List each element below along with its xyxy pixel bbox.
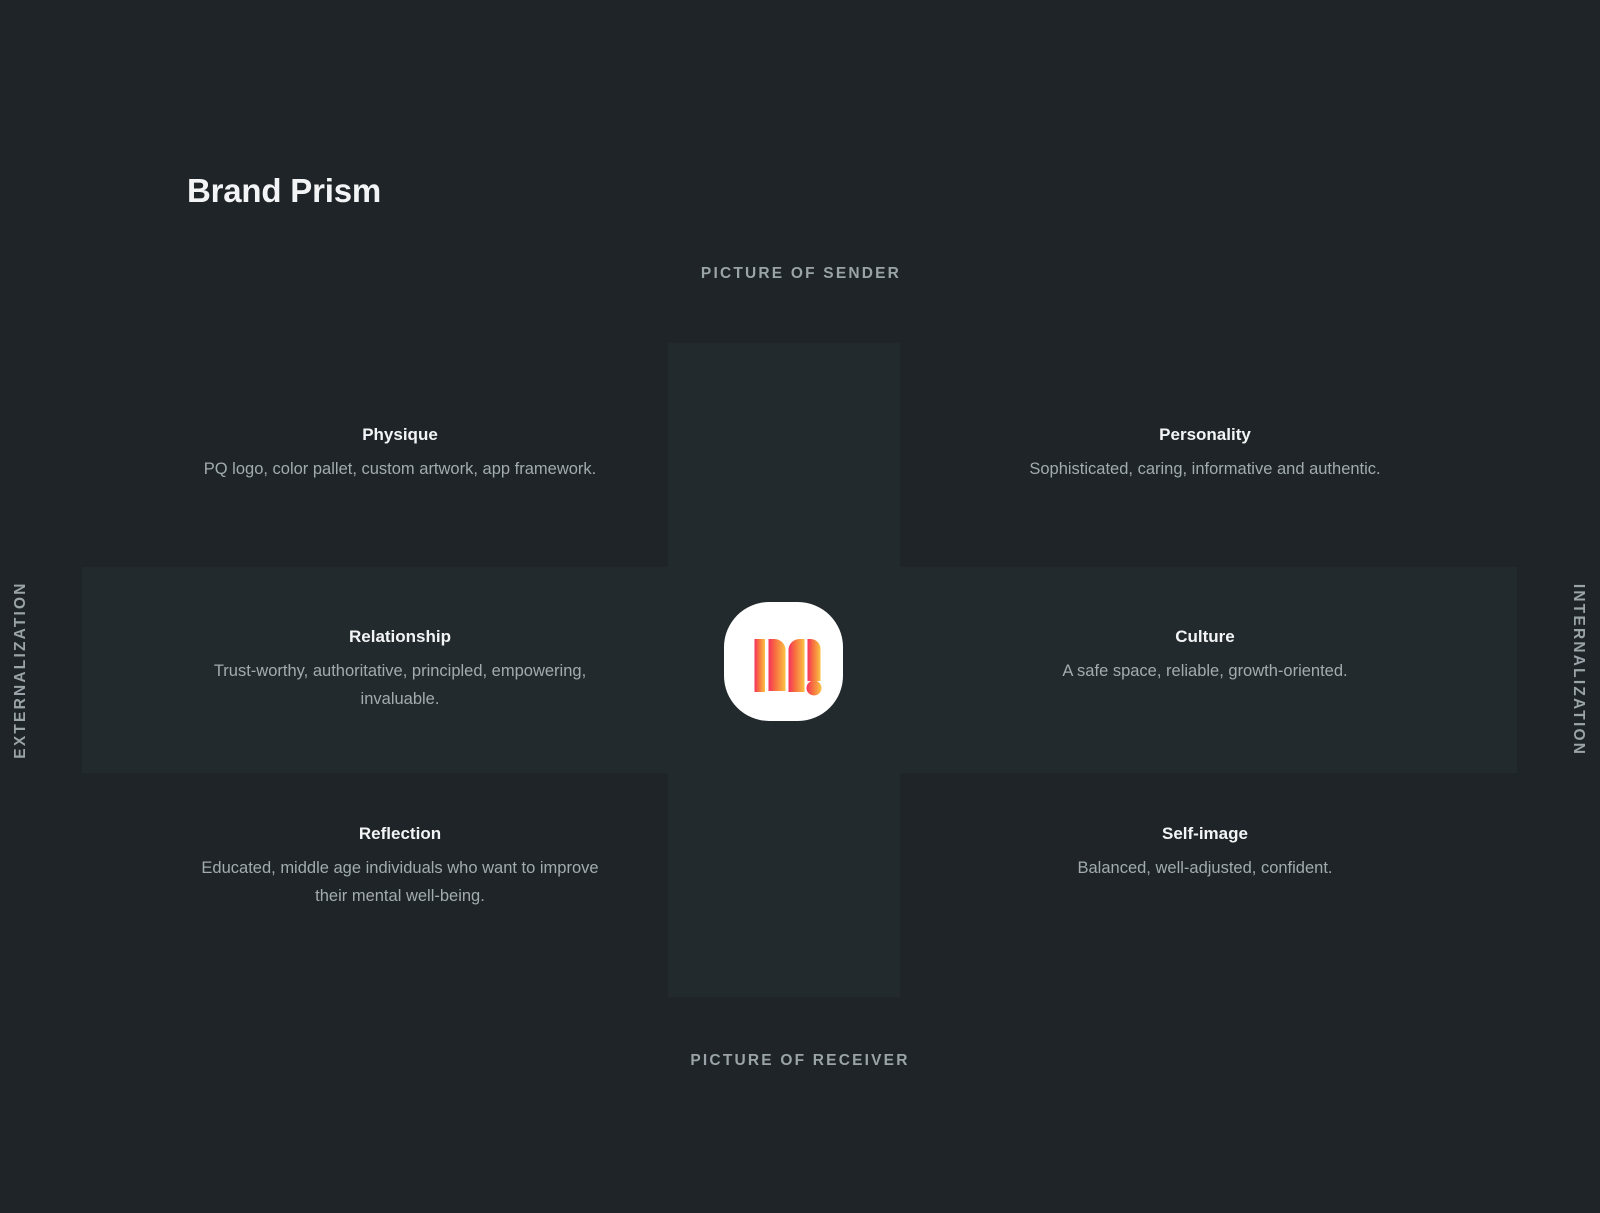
facet-self-image-title: Self-image <box>995 823 1415 845</box>
facet-personality: Personality Sophisticated, caring, infor… <box>995 424 1415 483</box>
axis-label-internalization: INTERNALIZATION <box>1569 584 1587 756</box>
facet-self-image: Self-image Balanced, well-adjusted, conf… <box>995 823 1415 882</box>
axis-label-picture-of-receiver: PICTURE OF RECEIVER <box>0 1052 1600 1070</box>
facet-culture: Culture A safe space, reliable, growth-o… <box>995 626 1415 685</box>
facet-culture-description: A safe space, reliable, growth-oriented. <box>995 657 1415 685</box>
facet-personality-title: Personality <box>995 424 1415 446</box>
page-title: Brand Prism <box>187 171 381 211</box>
facet-reflection-description: Educated, middle age individuals who wan… <box>190 854 610 911</box>
facet-reflection: Reflection Educated, middle age individu… <box>190 823 610 911</box>
axis-label-externalization: EXTERNALIZATION <box>12 581 30 758</box>
pq-logo-mark-icon <box>724 602 843 721</box>
axis-label-picture-of-receiver-text: PICTURE OF RECEIVER <box>690 1052 909 1069</box>
facet-personality-description: Sophisticated, caring, informative and a… <box>995 455 1415 483</box>
facet-physique-description: PQ logo, color pallet, custom artwork, a… <box>190 455 610 483</box>
facet-relationship-description: Trust-worthy, authoritative, principled,… <box>190 657 610 714</box>
facet-physique-title: Physique <box>190 424 610 446</box>
axis-label-picture-of-sender: PICTURE OF SENDER <box>0 265 1600 283</box>
facet-reflection-title: Reflection <box>190 823 610 845</box>
facet-physique: Physique PQ logo, color pallet, custom a… <box>190 424 610 483</box>
facet-self-image-description: Balanced, well-adjusted, confident. <box>995 854 1415 882</box>
brand-prism-canvas: Brand Prism PICTURE OF SENDER PICTURE OF… <box>0 0 1600 1213</box>
pq-brand-logo <box>724 602 843 721</box>
facet-culture-title: Culture <box>995 626 1415 648</box>
facet-relationship: Relationship Trust-worthy, authoritative… <box>190 626 610 714</box>
axis-label-picture-of-sender-text: PICTURE OF SENDER <box>701 265 901 283</box>
facet-relationship-title: Relationship <box>190 626 610 648</box>
